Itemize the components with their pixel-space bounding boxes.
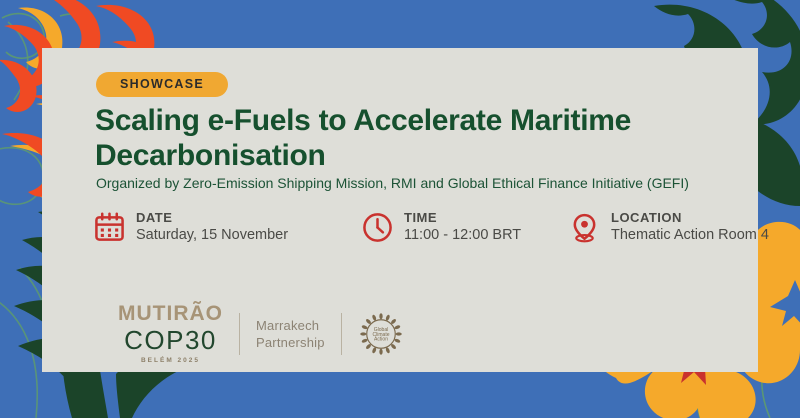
- detail-location-text: LOCATION Thematic Action Room 4: [611, 210, 769, 244]
- detail-date: DATE Saturday, 15 November: [94, 210, 288, 244]
- gca-line-3: Action: [374, 336, 388, 342]
- cop30-mutirao-text: MUTIRÃO: [118, 303, 223, 324]
- detail-location: LOCATION Thematic Action Room 4: [569, 210, 769, 244]
- detail-time-value: 11:00 - 12:00 BRT: [404, 226, 521, 244]
- cop30-logo: MUTIRÃO COP30 BELÉM 2025: [118, 303, 223, 365]
- marrakech-line-2: Partnership: [256, 334, 325, 351]
- clock-icon: [362, 212, 393, 243]
- detail-date-value: Saturday, 15 November: [136, 226, 288, 244]
- global-climate-action-emblem: Global Climate Action: [358, 311, 404, 357]
- detail-time-text: TIME 11:00 - 12:00 BRT: [404, 210, 521, 244]
- showcase-badge: SHOWCASE: [96, 72, 228, 97]
- logo-divider-2: [341, 313, 342, 355]
- cop30-text: COP30: [118, 327, 223, 353]
- detail-date-label: DATE: [136, 210, 288, 226]
- calendar-icon: [94, 212, 125, 243]
- logo-divider-1: [239, 313, 240, 355]
- detail-time: TIME 11:00 - 12:00 BRT: [362, 210, 521, 244]
- event-organizers: Organized by Zero-Emission Shipping Miss…: [96, 174, 746, 192]
- cop30-belem-text: BELÉM 2025: [118, 358, 223, 365]
- event-title: Scaling e-Fuels to Accelerate Maritime D…: [95, 103, 735, 174]
- event-poster: SHOWCASE Scaling e-Fuels to Accelerate M…: [0, 0, 800, 418]
- event-details-row: DATE Saturday, 15 November TIME 11:00 - …: [94, 210, 754, 260]
- detail-location-label: LOCATION: [611, 210, 769, 226]
- detail-time-label: TIME: [404, 210, 521, 226]
- detail-date-text: DATE Saturday, 15 November: [136, 210, 288, 244]
- event-title-line-1: Scaling e-Fuels to Accelerate Maritime: [95, 104, 631, 137]
- marrakech-line-1: Marrakech: [256, 317, 325, 334]
- map-pin-icon: [569, 212, 600, 243]
- logo-row: MUTIRÃO COP30 BELÉM 2025 Marrakech Partn…: [118, 303, 404, 365]
- detail-location-value: Thematic Action Room 4: [611, 226, 769, 244]
- marrakech-partnership-logo: Marrakech Partnership: [256, 317, 325, 351]
- event-title-line-2: Decarbonisation: [95, 139, 326, 172]
